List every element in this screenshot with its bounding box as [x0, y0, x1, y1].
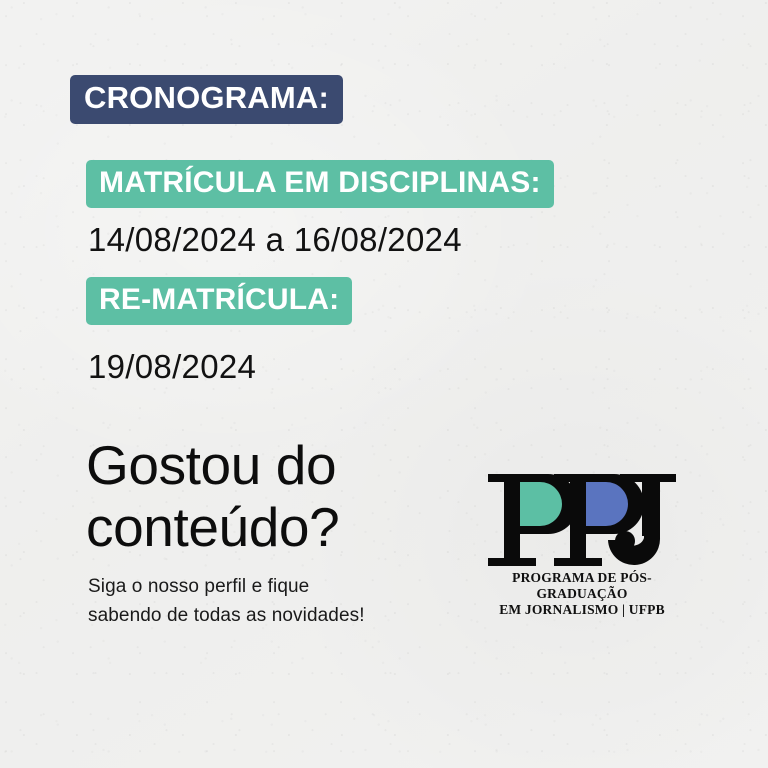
schedule-entry-label-rematricula: RE-MATRÍCULA: [86, 277, 352, 325]
section-label-cronograma: CRONOGRAMA: [70, 75, 343, 124]
cta-heading: Gostou do conteúdo? [86, 435, 416, 558]
cta-subtext-line-2: sabendo de todas as novidades! [88, 602, 428, 631]
ppj-logo-caption: PROGRAMA DE PÓS-GRADUAÇÃO EM JORNALISMO … [484, 570, 680, 618]
schedule-entry-date-rematricula: 19/08/2024 [88, 348, 256, 386]
cta-subtext: Siga o nosso perfil e fique sabendo de t… [88, 573, 428, 630]
ppj-logo-caption-line-2: EM JORNALISMO | UFPB [484, 602, 680, 618]
schedule-entry-label-matricula: MATRÍCULA EM DISCIPLINAS: [86, 160, 554, 208]
ppj-logo: PROGRAMA DE PÓS-GRADUAÇÃO EM JORNALISMO … [484, 470, 680, 604]
cta-subtext-line-1: Siga o nosso perfil e fique [88, 573, 428, 602]
ppj-letter-p1 [488, 474, 578, 566]
ppj-logo-caption-line-1: PROGRAMA DE PÓS-GRADUAÇÃO [484, 570, 680, 602]
ppj-logo-icon [484, 470, 680, 570]
poster-canvas: CRONOGRAMA: MATRÍCULA EM DISCIPLINAS: 14… [0, 0, 768, 768]
schedule-entry-date-matricula: 14/08/2024 a 16/08/2024 [88, 221, 462, 259]
poster-content: CRONOGRAMA: MATRÍCULA EM DISCIPLINAS: 14… [0, 0, 768, 768]
